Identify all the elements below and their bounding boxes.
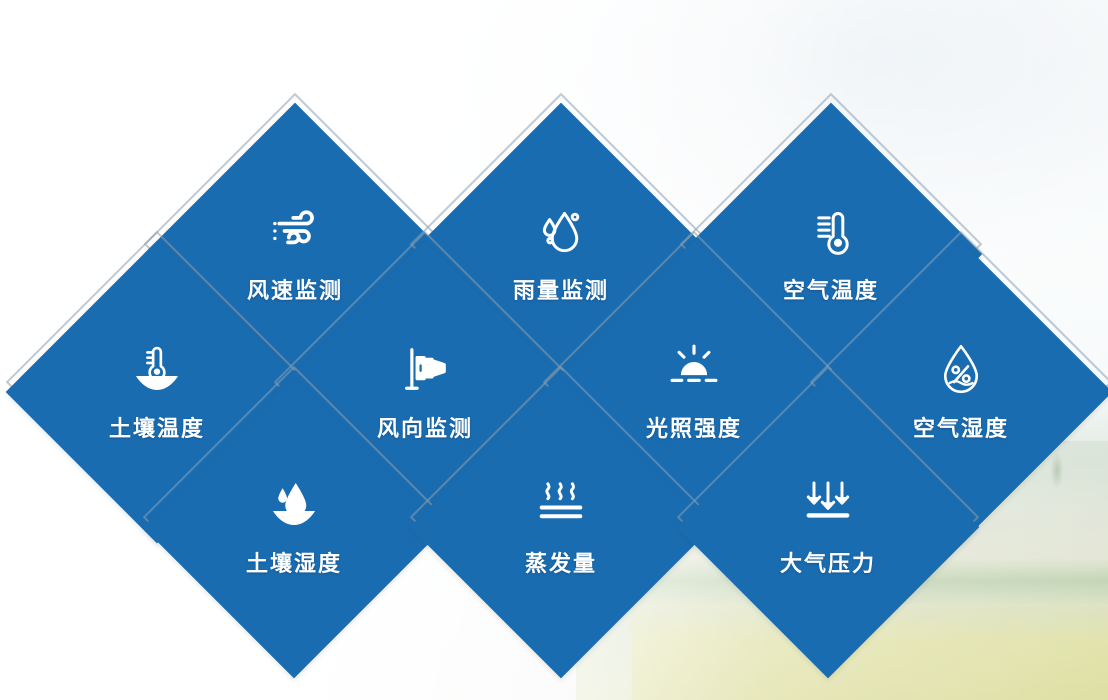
- diagram-canvas: 风速监测 雨量监测 空气温度 土壤温度 风向监测: [0, 0, 1108, 700]
